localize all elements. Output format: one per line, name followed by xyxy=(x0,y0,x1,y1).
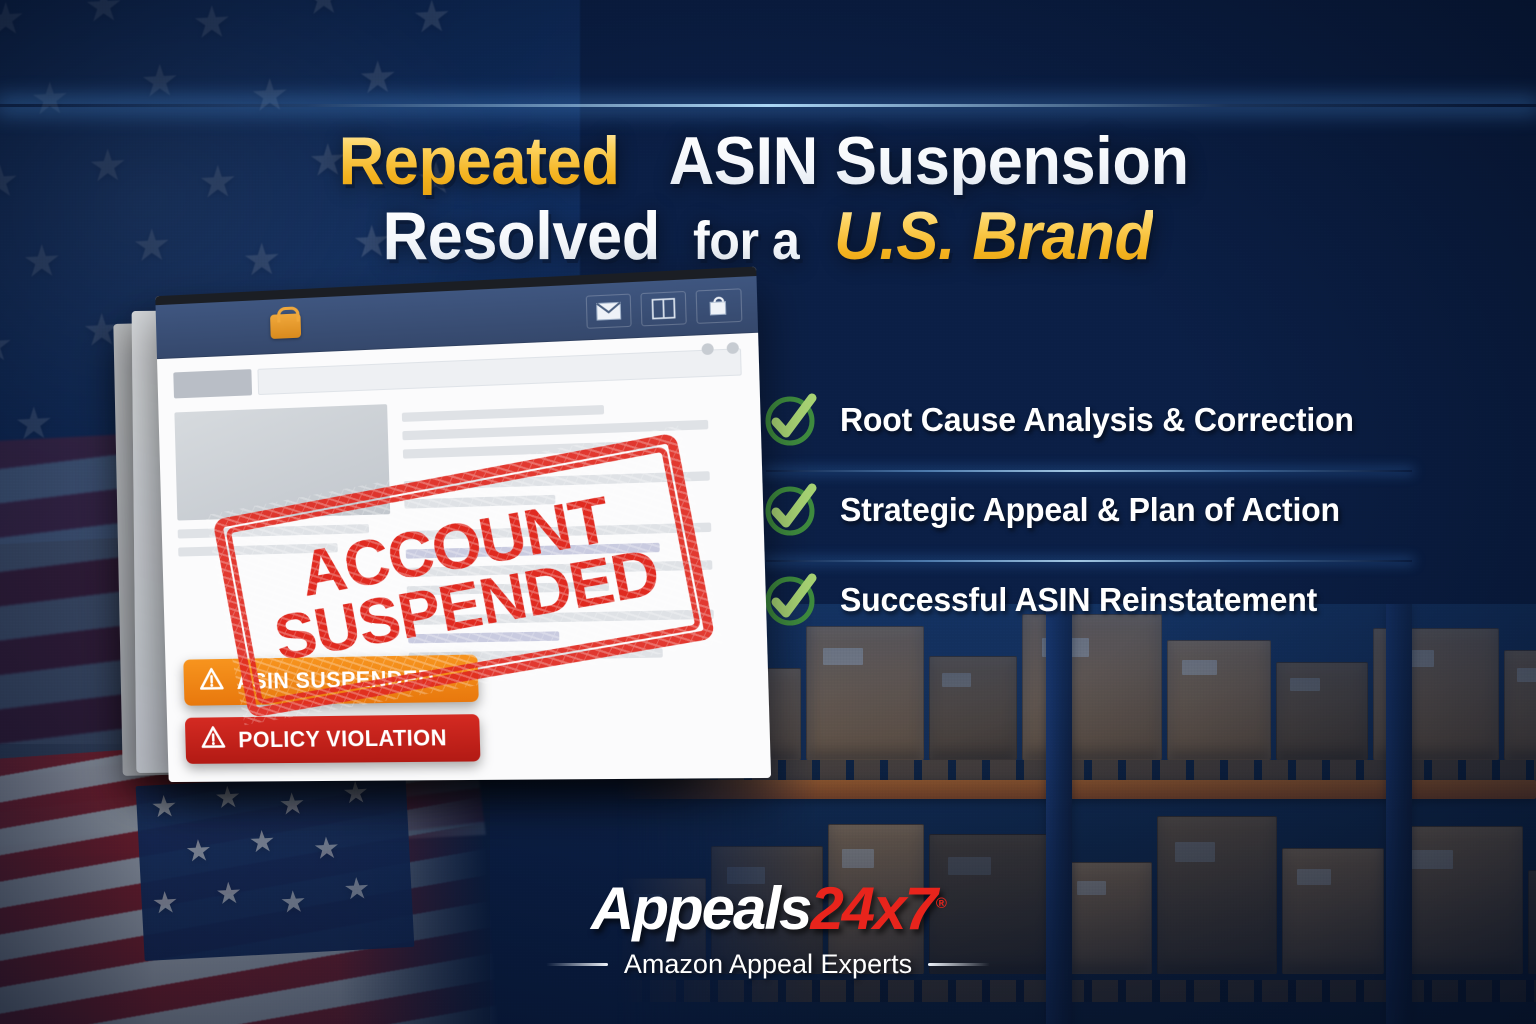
logo-wordmark: Appeals24x7® xyxy=(0,879,1536,939)
headline-white-for-a: for a xyxy=(693,215,800,268)
benefit-label: Successful ASIN Reinstatement xyxy=(840,581,1317,619)
benefit-label: Root Cause Analysis & Correction xyxy=(840,401,1354,439)
asin-suspended-badge: ASIN SUSPENDED xyxy=(183,655,479,706)
logo-tagline-row: Amazon Appeal Experts xyxy=(0,949,1536,980)
tagline-dash-left xyxy=(546,963,608,966)
tagline-dash-right xyxy=(928,963,990,966)
brand-logo: Appeals24x7® Amazon Appeal Experts xyxy=(0,879,1536,980)
browser-mockup: ASIN SUSPENDED POLICY VIOLATION xyxy=(118,296,738,796)
shopping-bag-icon[interactable] xyxy=(696,288,743,324)
address-bar-row xyxy=(173,348,741,398)
benefit-item-3: Successful ASIN Reinstatement xyxy=(762,562,1412,638)
check-circle-icon xyxy=(762,482,818,538)
benefits-list: Root Cause Analysis & Correction Strateg… xyxy=(762,382,1412,638)
lock-icon xyxy=(270,313,301,339)
benefit-item-2: Strategic Appeal & Plan of Action xyxy=(762,472,1412,548)
logo-tagline: Amazon Appeal Experts xyxy=(624,949,912,980)
registered-mark: ® xyxy=(936,895,945,912)
check-circle-icon xyxy=(762,392,818,448)
top-glow-line xyxy=(0,104,1536,107)
warning-triangle-icon xyxy=(199,667,225,698)
page-content: ASIN SUSPENDED POLICY VIOLATION xyxy=(157,333,771,782)
browser-window: ASIN SUSPENDED POLICY VIOLATION xyxy=(155,267,771,783)
content-dots xyxy=(701,342,738,355)
promo-graphic: ★ ★ ★ ★ ★ ★ ★ ★ ★ ★ ★ ★ ★ ★ ★ ★ ★ ★ ★ ★ … xyxy=(0,0,1536,1024)
headline-gold-us-brand: U.S. Brand xyxy=(834,203,1153,270)
envelope-icon[interactable] xyxy=(586,293,632,328)
badge-label: ASIN SUSPENDED xyxy=(236,666,434,695)
logo-appeals-text: Appeals xyxy=(591,875,810,942)
content-columns xyxy=(174,390,750,666)
check-circle-icon xyxy=(762,572,818,628)
headline-white-asin-suspension: ASIN Suspension xyxy=(668,128,1188,195)
status-badges: ASIN SUSPENDED POLICY VIOLATION xyxy=(183,642,493,764)
headline-line-1: Repeated ASIN Suspension xyxy=(0,128,1536,195)
benefit-item-1: Root Cause Analysis & Correction xyxy=(762,382,1412,458)
warning-triangle-icon xyxy=(200,725,226,755)
headline-gold-repeated: Repeated xyxy=(339,128,620,195)
headline-white-resolved: Resolved xyxy=(382,203,659,270)
benefit-label: Strategic Appeal & Plan of Action xyxy=(840,491,1340,529)
logo-24x7-text: 24x7 xyxy=(810,875,935,942)
toolbar-icons xyxy=(586,288,743,329)
headline: Repeated ASIN Suspension Resolved for a … xyxy=(0,128,1536,271)
policy-violation-badge: POLICY VIOLATION xyxy=(185,714,481,764)
image-placeholder xyxy=(174,404,390,520)
content-right-column xyxy=(402,390,750,662)
content-left-column xyxy=(174,404,394,666)
badge-label: POLICY VIOLATION xyxy=(238,725,447,754)
split-view-icon[interactable] xyxy=(640,290,686,325)
headline-line-2: Resolved for a U.S. Brand xyxy=(0,203,1536,270)
search-input[interactable] xyxy=(257,348,741,395)
address-tag xyxy=(173,369,252,398)
